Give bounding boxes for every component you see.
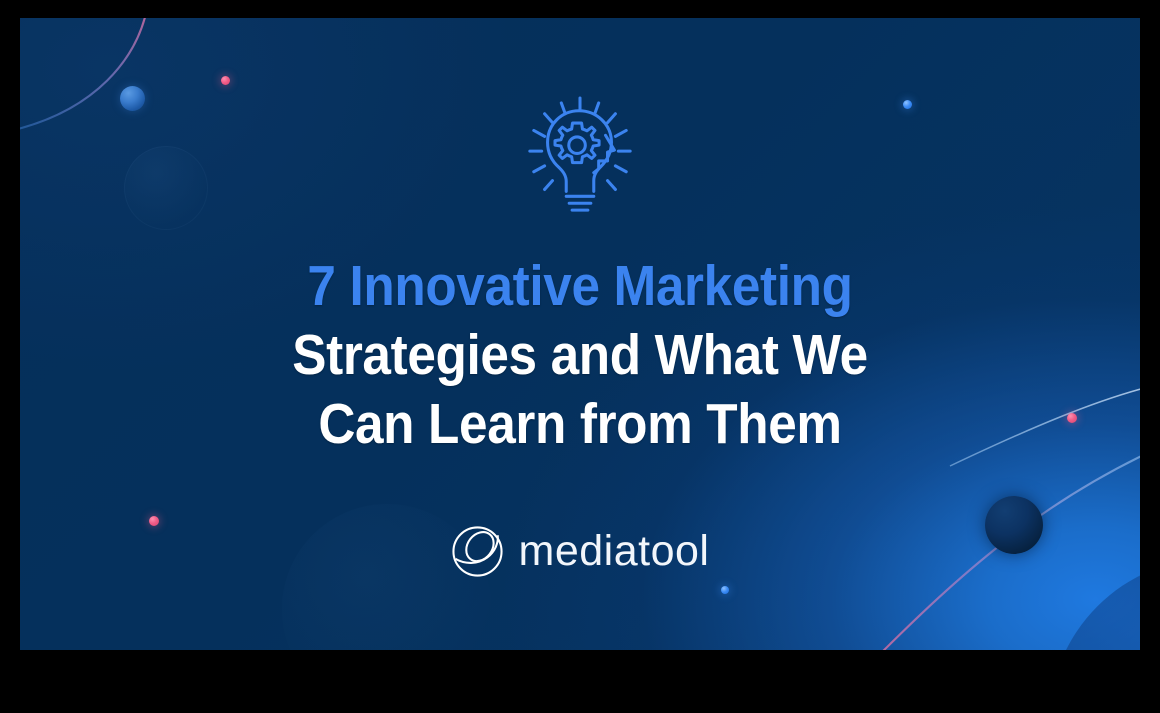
slide-content: 7 Innovative Marketing Strategies and Wh… [20, 18, 1140, 650]
slide-title: 7 Innovative Marketing Strategies and Wh… [76, 252, 1084, 459]
title-line-3: Can Learn from Them [76, 390, 1084, 459]
mediatool-wordmark: mediatool [519, 530, 710, 573]
title-line-2: Strategies and What We [76, 321, 1084, 390]
lightbulb-head-gear-icon [521, 96, 639, 218]
slide-frame: 7 Innovative Marketing Strategies and Wh… [0, 0, 1160, 713]
presentation-slide: 7 Innovative Marketing Strategies and Wh… [20, 18, 1140, 650]
mediatool-swirl-mark [451, 525, 504, 578]
title-line-1: 7 Innovative Marketing [76, 252, 1084, 321]
mediatool-logo: mediatool [451, 525, 710, 578]
